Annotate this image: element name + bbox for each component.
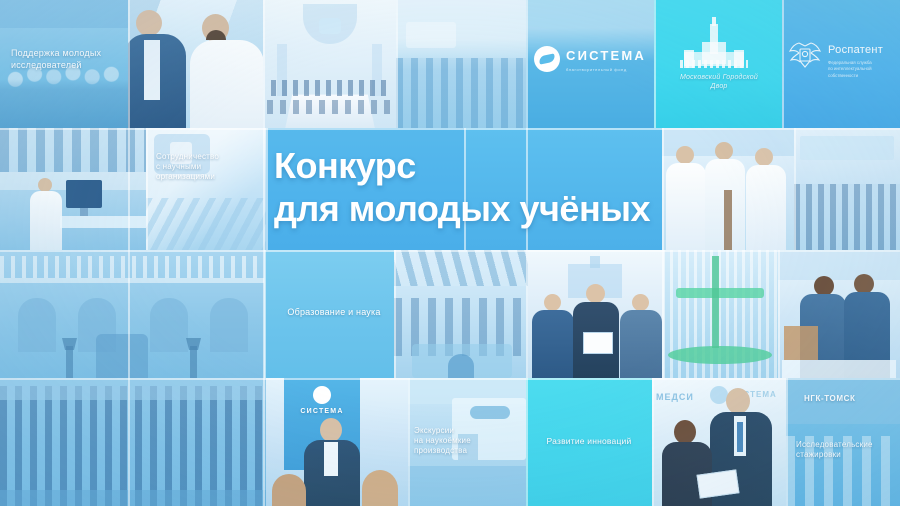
tile-group-photo-researchers: Поддержка молодых исследователей — [0, 0, 128, 128]
tile-award-ceremony-diploma — [528, 250, 662, 378]
logo-ngk: НГК-ТОМСК — [804, 394, 856, 404]
logo-rospatent: Роспатент Федеральная служба по интеллек… — [788, 40, 883, 79]
tile-education-caption-panel: Образование и наука — [264, 250, 394, 378]
tile-historic-building-facade — [0, 250, 264, 378]
video-wall-backdrop: Поддержка молодых исследователей — [0, 0, 900, 506]
tile-university-emblem-panel: Московский Городской Двор — [654, 0, 782, 128]
tile-large-crowd-group-photo — [0, 378, 266, 506]
caption-support: Поддержка молодых исследователей — [11, 48, 121, 71]
tile-award-handshake-medsi: МЕДСИ СИСТЕМА — [652, 378, 786, 506]
tile-speaker-at-sistema-stand: СИСТЕМА — [266, 378, 408, 506]
tile-conference-hall-interior — [263, 0, 396, 128]
sistema-mark-icon — [534, 46, 560, 72]
caption-innovation: Развитие инноваций — [536, 436, 642, 447]
tile-two-men-talking — [128, 0, 263, 128]
tile-excursion-factory-building: Экскурсии на наукоёмкие производства — [408, 378, 526, 506]
tile-three-scientists-lab-coats — [662, 128, 794, 250]
page-title: Конкурс для молодых учёных — [274, 145, 674, 231]
tile-innovation-caption-panel: Развитие инноваций — [526, 378, 652, 506]
caption-cooperation: Сотрудничество с научными организациями — [156, 152, 260, 183]
tile-cooperation-caption-panel: Сотрудничество с научными организациями — [146, 128, 266, 250]
logo-sistema-bottom: СИСТЕМА — [284, 408, 360, 417]
headline-line-1: Конкурс — [274, 145, 674, 187]
logo-medsi: МЕДСИ — [656, 392, 694, 404]
tile-laboratory-tour — [394, 250, 528, 378]
tile-internships-ngk-panel: НГК-ТОМСК Исследовательские стажировки — [786, 378, 900, 506]
caption-internships: Исследовательские стажировки — [796, 440, 896, 460]
tile-two-students-working — [778, 250, 900, 378]
tile-laboratory-equipment — [0, 128, 146, 250]
tile-audience-seated — [396, 0, 526, 128]
double-eagle-icon — [788, 40, 822, 70]
caption-education: Образование и наука — [278, 307, 390, 319]
university-name: Московский Городской Двор — [676, 74, 762, 92]
caption-excursions: Экскурсии на наукоёмкие производства — [414, 426, 494, 457]
tile-large-group-assembly — [794, 128, 900, 250]
headline-line-2: для молодых учёных — [274, 187, 674, 231]
tile-rospatent-logo-panel: Роспатент Федеральная служба по интеллек… — [782, 0, 900, 128]
tile-green-test-tube-rack — [662, 250, 778, 378]
logo-sistema: СИСТЕМА благотворительный фонд — [534, 46, 646, 72]
tile-people-standing-row: СИСТЕМА благотворительный фонд — [526, 0, 654, 128]
